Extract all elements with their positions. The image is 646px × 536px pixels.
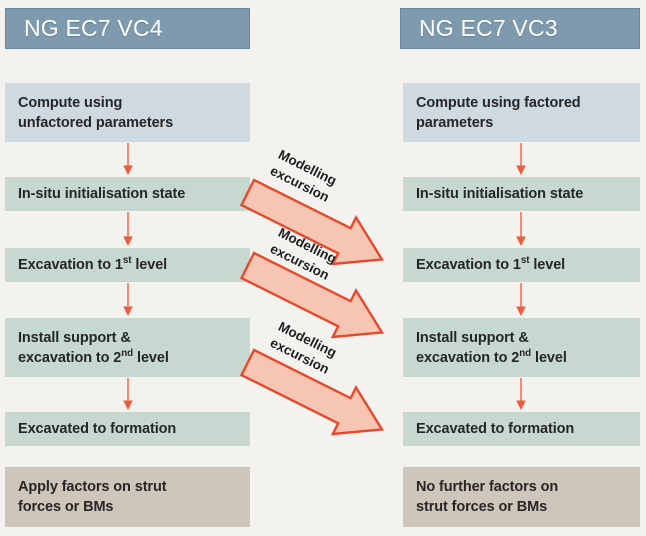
column-header-vc3: NG EC7 VC3 bbox=[400, 8, 640, 49]
step-line-1: Compute using factored bbox=[416, 95, 581, 111]
step-box-vc4-excavated-formation: Excavated to formation bbox=[5, 412, 250, 446]
step-line-2: parameters bbox=[416, 115, 493, 131]
step-line-1: In-situ initialisation state bbox=[18, 186, 185, 202]
step-line-1: Excavation to 1 bbox=[416, 257, 521, 273]
modelling-excursion-label-2: Modelling excursion bbox=[267, 224, 340, 284]
step-box-vc3-excavation-1st: Excavation to 1st level bbox=[403, 248, 640, 282]
step-box-vc4-apply-factors: Apply factors on strut forces or BMs bbox=[5, 467, 250, 527]
step-line-1-tail: level bbox=[529, 257, 565, 273]
step-line-1: Excavation to 1 bbox=[18, 257, 123, 273]
step-box-vc3-compute: Compute using factored parameters bbox=[403, 83, 640, 142]
column-header-vc3-label: NG EC7 VC3 bbox=[419, 15, 558, 42]
step-line-2: forces or BMs bbox=[18, 499, 113, 515]
flowchart-diagram: NG EC7 VC4 NG EC7 VC3 Compute using unfa… bbox=[0, 0, 646, 536]
modelling-excursion-arrows-layer bbox=[236, 169, 393, 452]
step-box-vc3-no-further-factors: No further factors on strut forces or BM… bbox=[403, 467, 640, 527]
step-line-2-tail: level bbox=[531, 350, 567, 366]
step-line-2-tail: level bbox=[133, 350, 169, 366]
step-line-2: excavation to 2 bbox=[416, 350, 519, 366]
modelling-excursion-label-3: Modelling excursion bbox=[267, 318, 340, 378]
step-box-vc3-insitu: In-situ initialisation state bbox=[403, 177, 640, 211]
step-line-1: Excavated to formation bbox=[18, 421, 176, 437]
step-line-1: Compute using bbox=[18, 95, 122, 111]
step-line-1: In-situ initialisation state bbox=[416, 186, 583, 202]
step-line-1: Install support & bbox=[416, 330, 529, 346]
step-box-vc4-excavation-1st: Excavation to 1st level bbox=[5, 248, 250, 282]
column-header-vc4-label: NG EC7 VC4 bbox=[24, 15, 163, 42]
step-box-vc4-install-support: Install support & excavation to 2nd leve… bbox=[5, 318, 250, 377]
step-line-2: strut forces or BMs bbox=[416, 499, 547, 515]
step-superscript: nd bbox=[121, 348, 133, 359]
step-box-vc3-excavated-formation: Excavated to formation bbox=[403, 412, 640, 446]
step-superscript: nd bbox=[519, 348, 531, 359]
column-header-vc4: NG EC7 VC4 bbox=[5, 8, 250, 49]
step-line-1: Excavated to formation bbox=[416, 421, 574, 437]
step-box-vc3-install-support: Install support & excavation to 2nd leve… bbox=[403, 318, 640, 377]
step-line-1-tail: level bbox=[131, 257, 167, 273]
step-line-2: excavation to 2 bbox=[18, 350, 121, 366]
step-box-vc4-compute: Compute using unfactored parameters bbox=[5, 83, 250, 142]
step-line-1: No further factors on bbox=[416, 479, 558, 495]
modelling-excursion-label-1: Modelling excursion bbox=[267, 146, 340, 206]
step-line-1: Install support & bbox=[18, 330, 131, 346]
step-line-1: Apply factors on strut bbox=[18, 479, 166, 495]
step-box-vc4-insitu: In-situ initialisation state bbox=[5, 177, 250, 211]
step-line-2: unfactored parameters bbox=[18, 115, 173, 131]
